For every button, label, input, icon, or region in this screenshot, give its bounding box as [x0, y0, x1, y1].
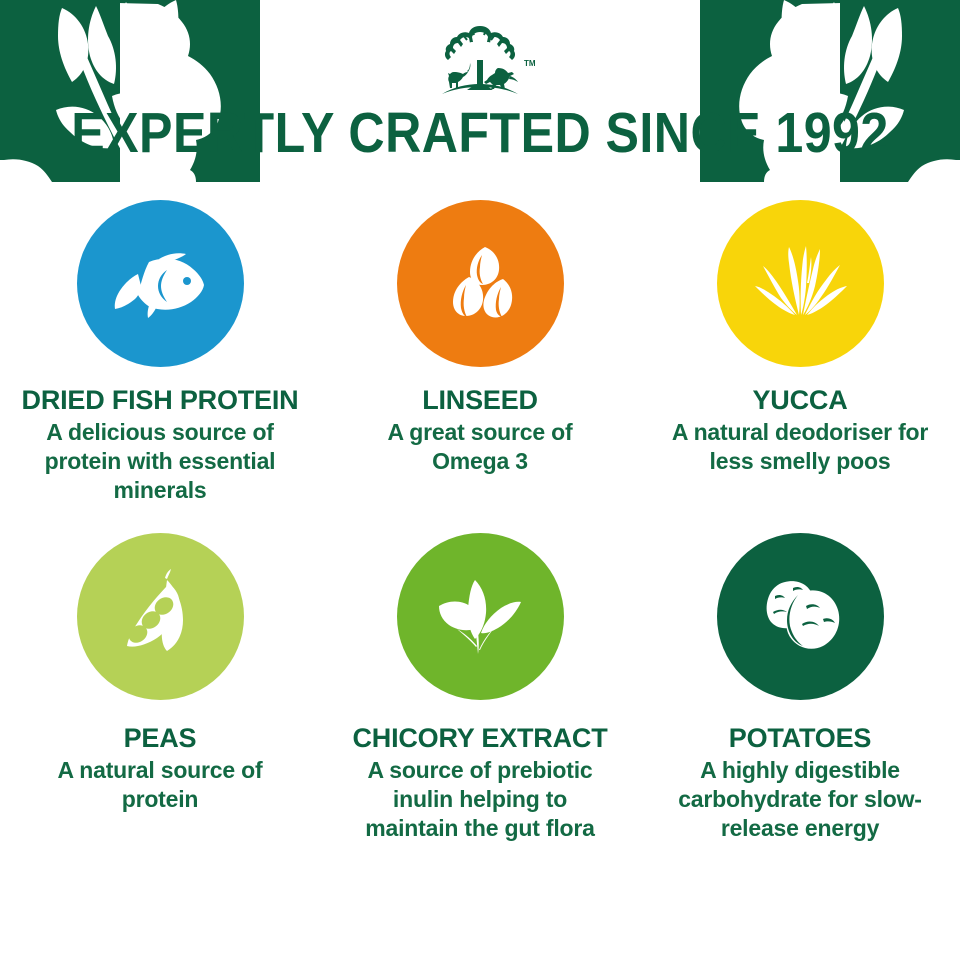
ingredient-title: DRIED FISH PROTEIN [22, 384, 299, 416]
ingredient-card-chicory-extract: CHICORY EXTRACT A source of prebiotic in… [320, 533, 640, 843]
ingredient-card-linseed: LINSEED A great source of Omega 3 [320, 200, 640, 505]
ingredient-title: LINSEED [422, 384, 538, 416]
ingredient-description: A source of prebiotic inulin helping to … [348, 756, 613, 843]
ingredient-description: A delicious source of protein with essen… [28, 418, 293, 505]
ingredient-card-yucca: YUCCA A natural deodoriser for less smel… [640, 200, 960, 505]
ingredient-card-dried-fish-protein: DRIED FISH PROTEIN A delicious source of… [0, 200, 320, 505]
ingredient-card-peas: PEAS A natural source of protein [0, 533, 320, 843]
trademark-mark: TM [524, 59, 536, 68]
potatoes-icon [717, 533, 884, 700]
yucca-plant-icon [717, 200, 884, 367]
ingredient-description: A great source of Omega 3 [348, 418, 613, 476]
tree-paw-cat-dog-logo: TM [420, 16, 540, 102]
seeds-icon [397, 200, 564, 367]
ingredient-description: A highly digestible carbohydrate for slo… [668, 756, 933, 843]
ingredient-description: A natural deodoriser for less smelly poo… [668, 418, 933, 476]
ingredients-infographic: TM EXPERTLY CRAFTED SINCE 1992 [0, 0, 960, 960]
ingredient-title: CHICORY EXTRACT [352, 722, 607, 754]
header-banner: TM EXPERTLY CRAFTED SINCE 1992 [0, 0, 960, 182]
pea-pod-icon [77, 533, 244, 700]
ingredient-card-potatoes: POTATOES A highly digestible carbohydrat… [640, 533, 960, 843]
ingredient-description: A natural source of protein [28, 756, 293, 814]
ingredient-title: POTATOES [729, 722, 871, 754]
chicory-leaves-icon [397, 533, 564, 700]
page-title: EXPERTLY CRAFTED SINCE 1992 [58, 104, 903, 162]
ingredient-title: YUCCA [752, 384, 847, 416]
fish-icon [77, 200, 244, 367]
ingredients-grid-row-1: DRIED FISH PROTEIN A delicious source of… [0, 182, 960, 505]
ingredients-grid-row-2: PEAS A natural source of protein [0, 505, 960, 843]
ingredient-title: PEAS [124, 722, 197, 754]
